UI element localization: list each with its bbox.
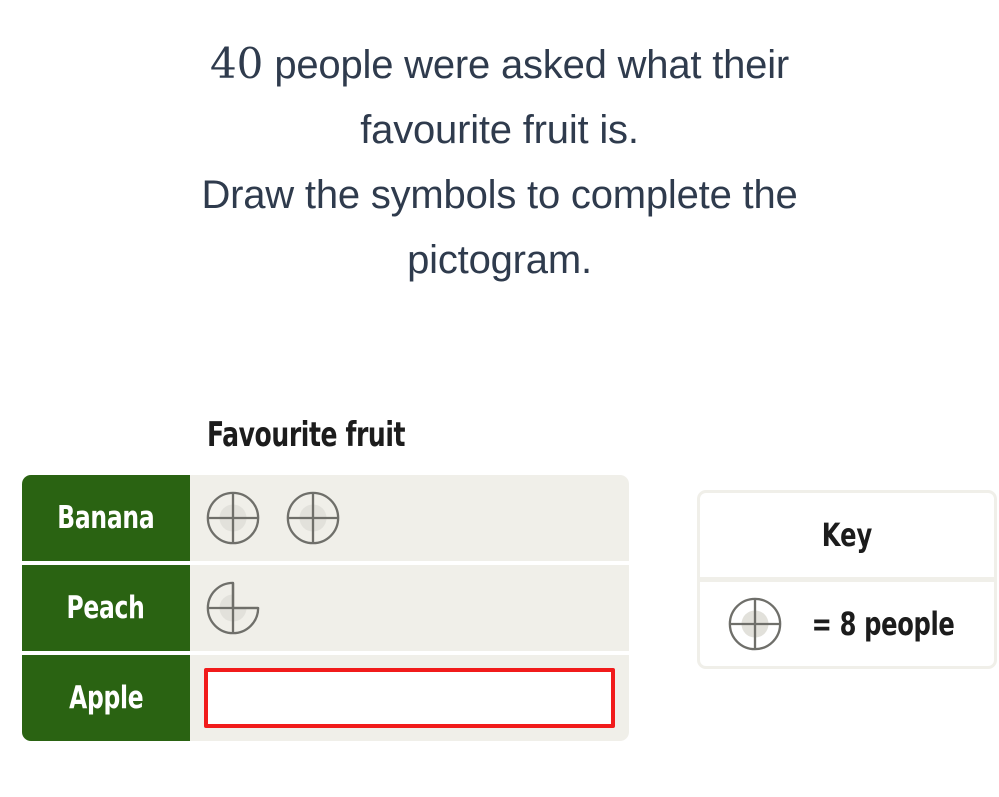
key-card: Key = 8 people — [697, 490, 997, 669]
key-header: Key — [700, 493, 994, 577]
question-line-1: 40 people were asked what their — [0, 30, 999, 98]
pictogram: Favourite fruit Banana — [22, 415, 629, 741]
table-row: Apple — [22, 655, 629, 741]
apple-answer-input[interactable] — [204, 668, 615, 728]
pictogram-symbol-full-icon — [204, 489, 262, 547]
row-label-peach: Peach — [22, 565, 190, 651]
key-symbol-full-icon — [726, 595, 784, 653]
row-symbols-apple — [190, 655, 629, 741]
row-symbols-banana — [190, 475, 629, 561]
question-line-1-text: people were asked what their — [263, 43, 789, 87]
table-row: Peach — [22, 565, 629, 651]
row-label-text: Banana — [57, 500, 154, 536]
row-label-banana: Banana — [22, 475, 190, 561]
question-line-3: Draw the symbols to complete the — [0, 163, 999, 228]
key-equals-label: = 8 people — [798, 605, 968, 643]
table-row: Banana — [22, 475, 629, 561]
key-equals-text: = 8 people — [812, 605, 955, 643]
pictogram-table: Banana Peach — [22, 475, 629, 741]
row-label-text: Apple — [69, 680, 143, 716]
question-prompt: 40 people were asked what their favourit… — [0, 30, 999, 292]
row-label-text: Peach — [67, 590, 145, 626]
question-number: 40 — [210, 39, 263, 88]
pictogram-symbol-full-icon — [284, 489, 342, 547]
row-symbols-peach — [190, 565, 629, 651]
question-line-2: favourite fruit is. — [0, 98, 999, 163]
key-body: = 8 people — [700, 582, 994, 666]
question-line-4: pictogram. — [0, 228, 999, 293]
key-header-text: Key — [822, 516, 872, 554]
row-label-apple: Apple — [22, 655, 190, 741]
pictogram-title: Favourite fruit — [207, 415, 553, 455]
pictogram-symbol-three-quarter-icon — [204, 579, 262, 637]
